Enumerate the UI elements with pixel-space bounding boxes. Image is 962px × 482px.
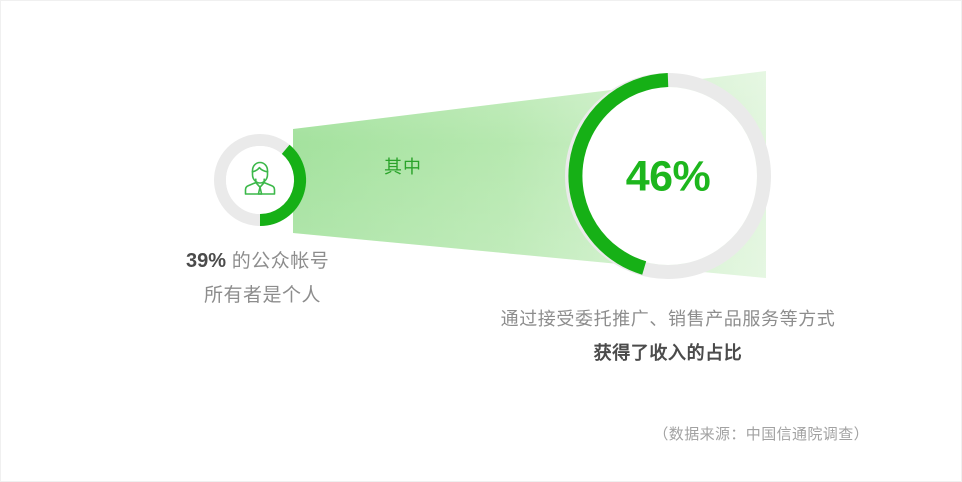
donut-chart-39	[220, 140, 300, 220]
left-percent-suffix: 的公众帐号	[226, 251, 329, 272]
funnel-label: 其中	[384, 158, 422, 176]
left-caption-line-2: 所有者是个人	[204, 286, 321, 305]
right-caption-line-1: 通过接受委托推广、销售产品服务等方式	[501, 310, 836, 328]
infographic-graphics	[1, 1, 962, 482]
donut-46-value: 46%	[626, 156, 711, 199]
infographic-canvas: 39% 的公众帐号 所有者是个人 其中 46% 通过接受委托推广、销售产品服务等…	[0, 0, 962, 482]
source-note: （数据来源：中国信通院调查）	[653, 427, 869, 442]
left-caption-line-1: 39% 的公众帐号	[186, 251, 329, 271]
left-percent-value: 39%	[186, 250, 226, 272]
right-caption-line-2: 获得了收入的占比	[594, 344, 743, 362]
